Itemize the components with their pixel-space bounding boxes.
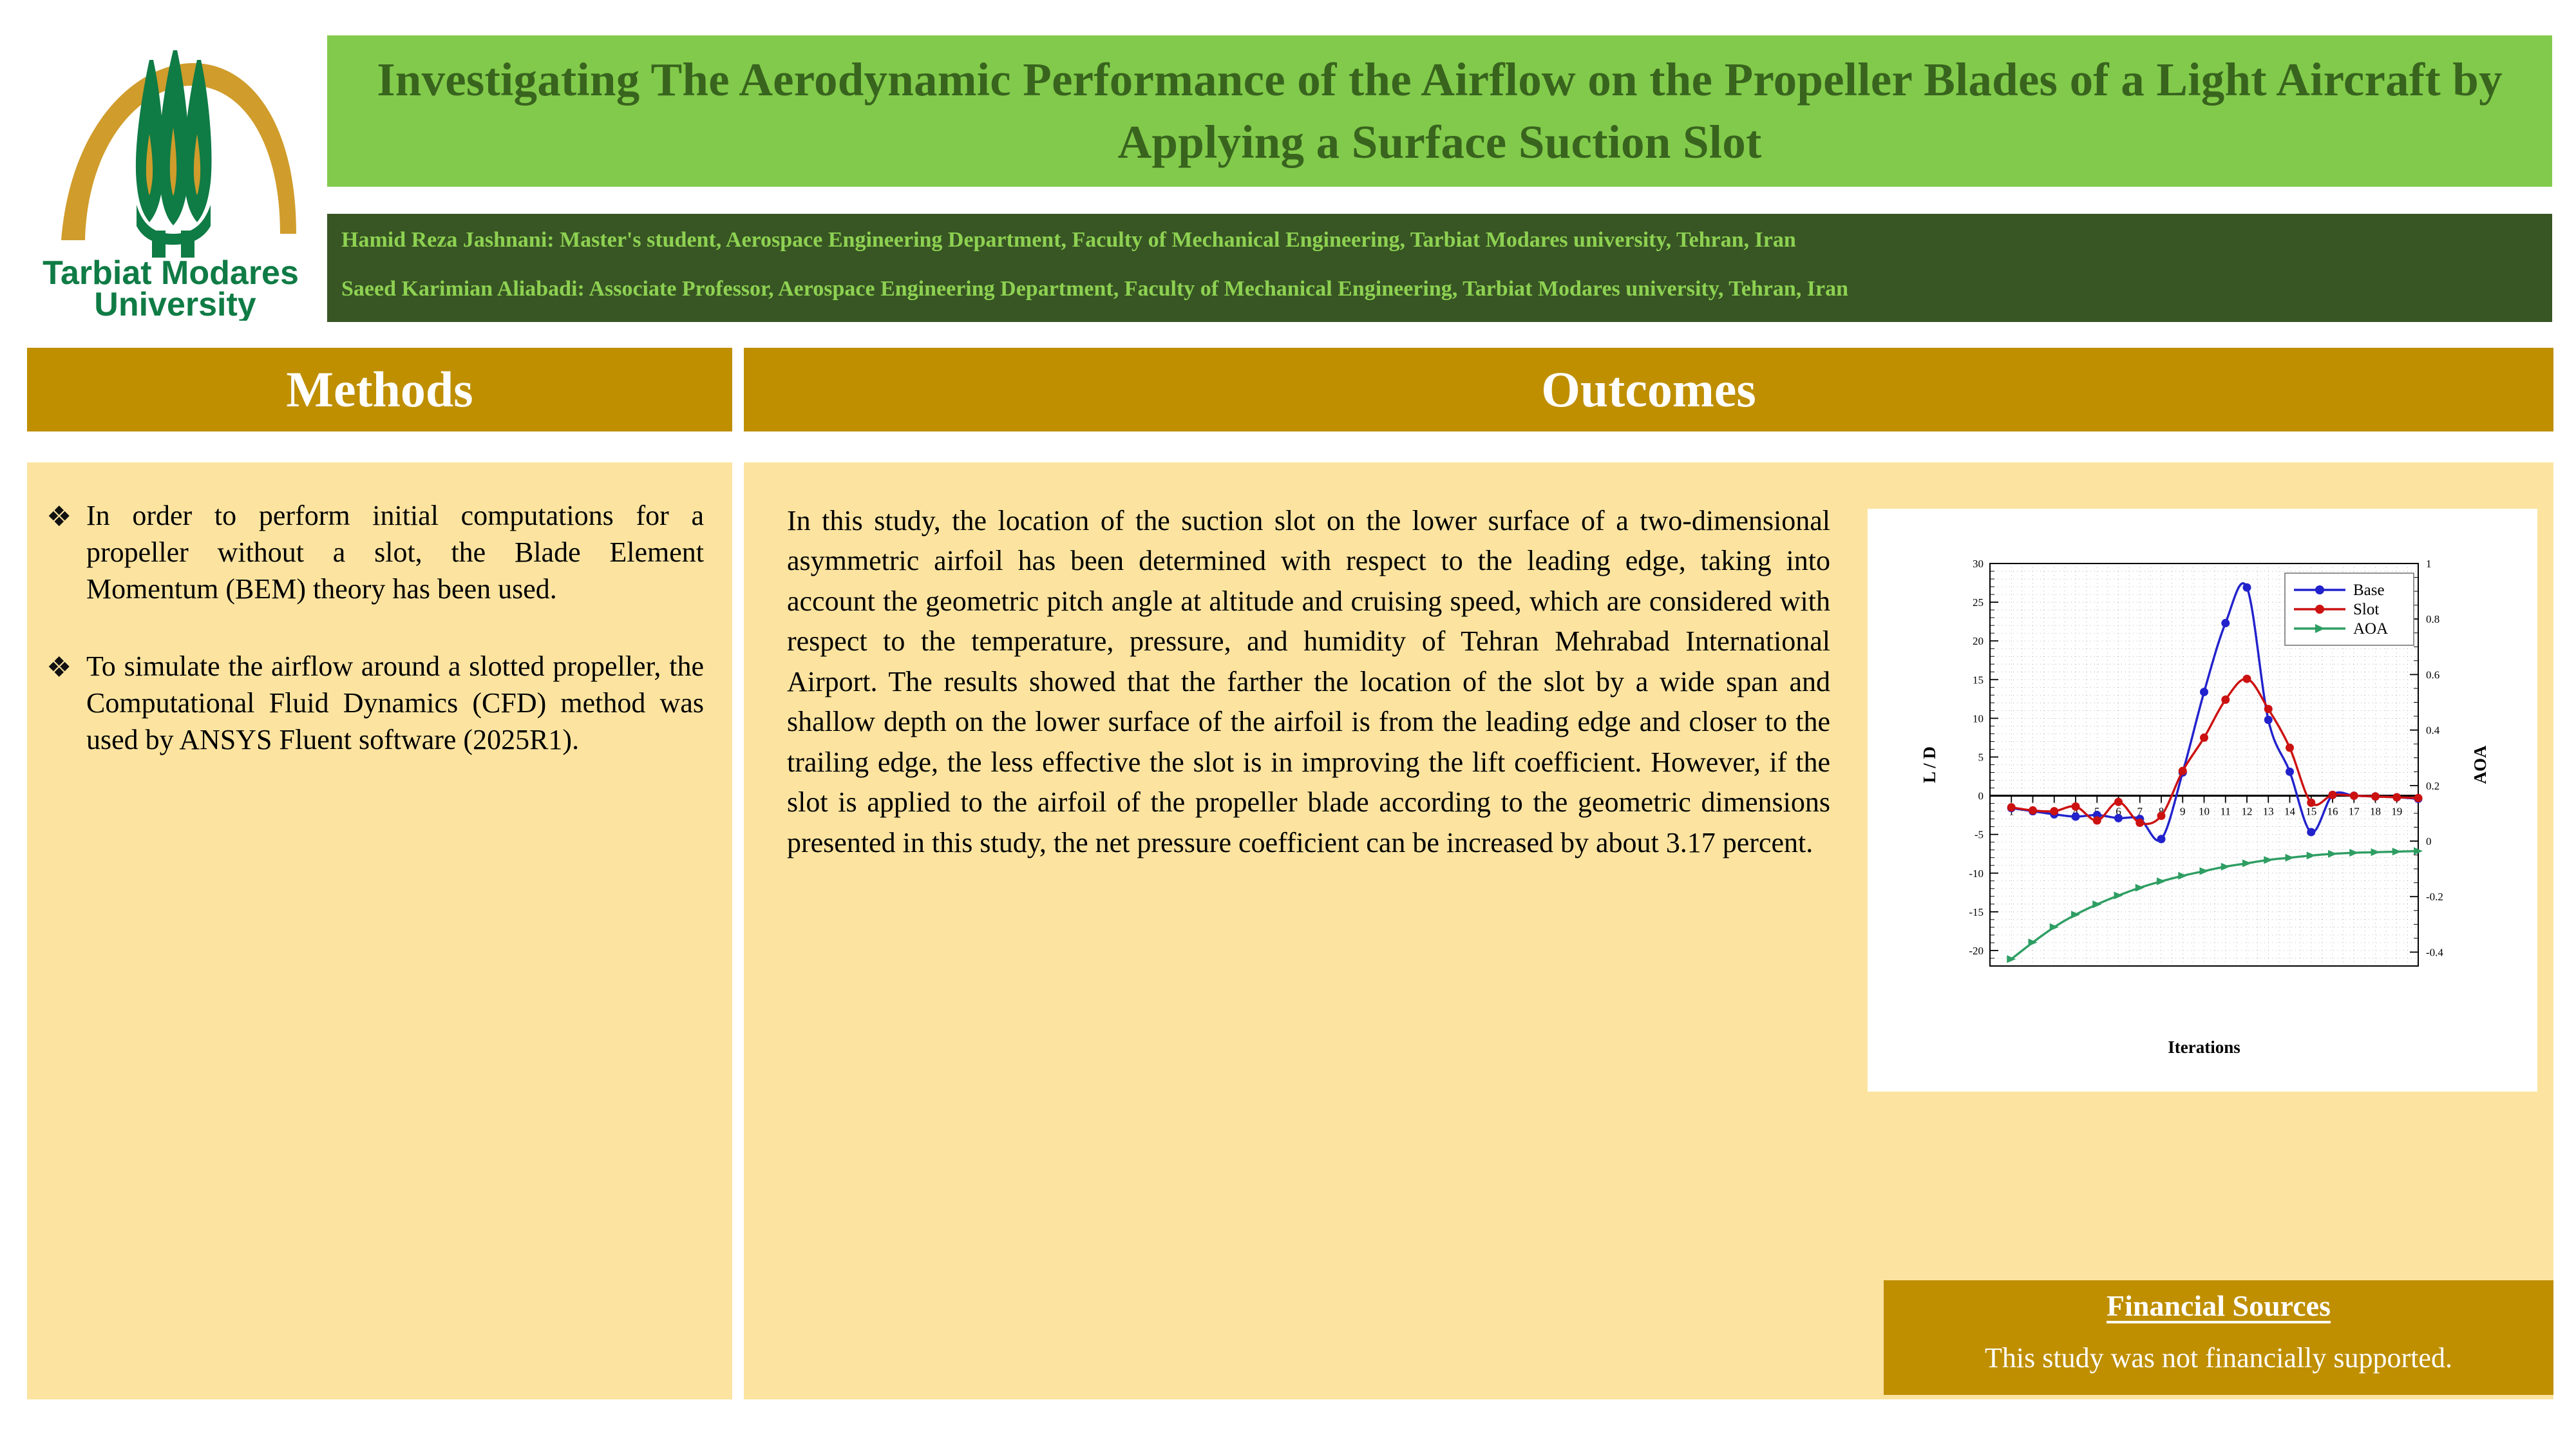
author-line-1: Hamid Reza Jashnani: Master's student, A…	[341, 228, 2538, 252]
author-line-2: Saeed Karimian Aliabadi: Associate Profe…	[341, 277, 2538, 301]
methods-bullet-list: ❖ In order to perform initial computatio…	[27, 462, 732, 758]
authors-bar: Hamid Reza Jashnani: Master's student, A…	[327, 214, 2552, 322]
svg-text:11: 11	[2221, 806, 2231, 818]
list-item: ❖ In order to perform initial computatio…	[46, 497, 704, 608]
svg-text:19: 19	[2391, 806, 2402, 818]
svg-text:-15: -15	[1969, 906, 1984, 918]
university-logo: Tarbiat Modares University	[26, 12, 316, 321]
svg-text:0.6: 0.6	[2426, 668, 2439, 681]
svg-text:AOA: AOA	[2353, 620, 2388, 638]
svg-text:9: 9	[2180, 806, 2186, 818]
financial-sources-title: Financial Sources	[1884, 1289, 2553, 1323]
svg-text:Slot: Slot	[2353, 601, 2379, 618]
diamond-bullet-icon: ❖	[46, 648, 86, 686]
svg-text:-5: -5	[1975, 829, 1984, 841]
svg-text:-20: -20	[1969, 945, 1984, 957]
svg-text:1: 1	[2426, 558, 2432, 570]
outcomes-section-header: Outcomes	[744, 348, 2553, 431]
svg-text:-0.4: -0.4	[2426, 946, 2443, 958]
svg-text:10: 10	[1973, 712, 1984, 724]
outcomes-heading-text: Outcomes	[1541, 365, 1756, 415]
diamond-bullet-icon: ❖	[46, 497, 86, 535]
svg-text:30: 30	[1973, 558, 1984, 570]
svg-text:5: 5	[1978, 751, 1984, 763]
svg-text:18: 18	[2370, 806, 2381, 818]
results-chart: -20-15-10-5051015202530-0.4-0.200.20.40.…	[1868, 509, 2537, 1092]
outcomes-paragraph: In this study, the location of the sucti…	[787, 501, 1830, 863]
svg-text:Iterations: Iterations	[2168, 1037, 2240, 1057]
svg-text:14: 14	[2284, 806, 2296, 818]
poster-title: Investigating The Aerodynamic Performanc…	[327, 49, 2552, 173]
svg-text:0.2: 0.2	[2426, 780, 2439, 792]
svg-text:12: 12	[2242, 806, 2253, 818]
list-item: ❖ To simulate the airflow around a slott…	[46, 648, 704, 759]
svg-text:0: 0	[2426, 835, 2432, 848]
svg-text:L / D: L / D	[1920, 746, 1939, 783]
svg-text:20: 20	[1973, 635, 1984, 647]
svg-text:25: 25	[1973, 596, 1984, 609]
svg-text:13: 13	[2263, 806, 2274, 818]
methods-bullet-text-2: To simulate the airflow around a slotted…	[86, 648, 704, 759]
financial-sources-box: Financial Sources This study was not fin…	[1884, 1280, 2553, 1395]
financial-sources-text: This study was not financially supported…	[1884, 1341, 2553, 1376]
svg-text:0.4: 0.4	[2426, 724, 2440, 737]
svg-text:15: 15	[2306, 806, 2316, 818]
poster-root: Tarbiat Modares University Investigating…	[0, 0, 2576, 1449]
svg-text:AOA: AOA	[2470, 745, 2490, 784]
logo-svg: Tarbiat Modares University	[26, 12, 316, 321]
methods-panel: ❖ In order to perform initial computatio…	[27, 462, 732, 1399]
svg-text:15: 15	[1973, 674, 1984, 686]
poster-title-bar: Investigating The Aerodynamic Performanc…	[327, 35, 2552, 187]
svg-text:0: 0	[1978, 790, 1984, 802]
methods-bullet-text-1: In order to perform initial computations…	[86, 497, 704, 608]
svg-text:0.8: 0.8	[2426, 613, 2439, 625]
methods-section-header: Methods	[27, 348, 732, 431]
logo-text-line2: University	[94, 286, 256, 321]
svg-text:-10: -10	[1969, 867, 1984, 880]
svg-text:Base: Base	[2353, 582, 2385, 599]
results-chart-card: -20-15-10-5051015202530-0.4-0.200.20.40.…	[1868, 509, 2537, 1092]
methods-heading-text: Methods	[286, 365, 473, 415]
svg-text:10: 10	[2199, 806, 2210, 818]
svg-text:-0.2: -0.2	[2426, 891, 2443, 903]
svg-text:16: 16	[2327, 806, 2338, 818]
svg-text:17: 17	[2349, 806, 2360, 818]
